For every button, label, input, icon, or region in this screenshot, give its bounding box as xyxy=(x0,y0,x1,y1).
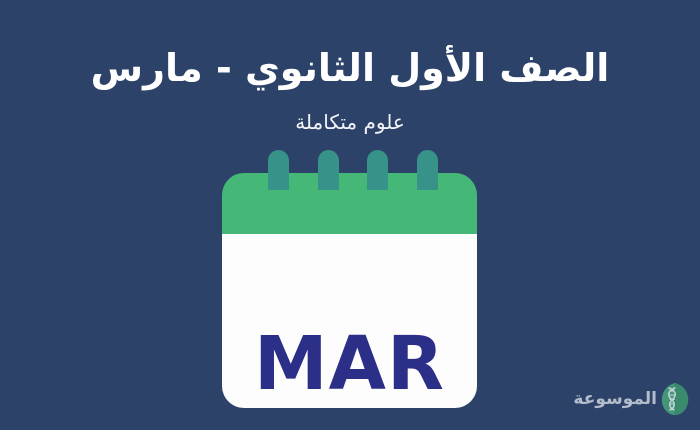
calendar-ring-icon xyxy=(268,150,289,190)
watermark: الموسوعة xyxy=(565,378,690,420)
calendar-ring-icon xyxy=(417,150,438,190)
calendar-month-label: MAR xyxy=(222,327,477,401)
calendar-rings-group xyxy=(222,150,477,234)
poster-canvas: الصف الأول الثانوي - مارس علوم متكاملة M… xyxy=(0,0,700,430)
watermark-label: الموسوعة xyxy=(573,389,657,409)
page-title: الصف الأول الثانوي - مارس xyxy=(0,40,700,96)
calendar-ring-icon xyxy=(367,150,388,190)
calendar-body-panel: MAR xyxy=(222,234,477,408)
page-subtitle: علوم متكاملة xyxy=(0,108,700,136)
leaf-dna-logo-icon xyxy=(660,382,690,416)
calendar-ring-icon xyxy=(318,150,339,190)
